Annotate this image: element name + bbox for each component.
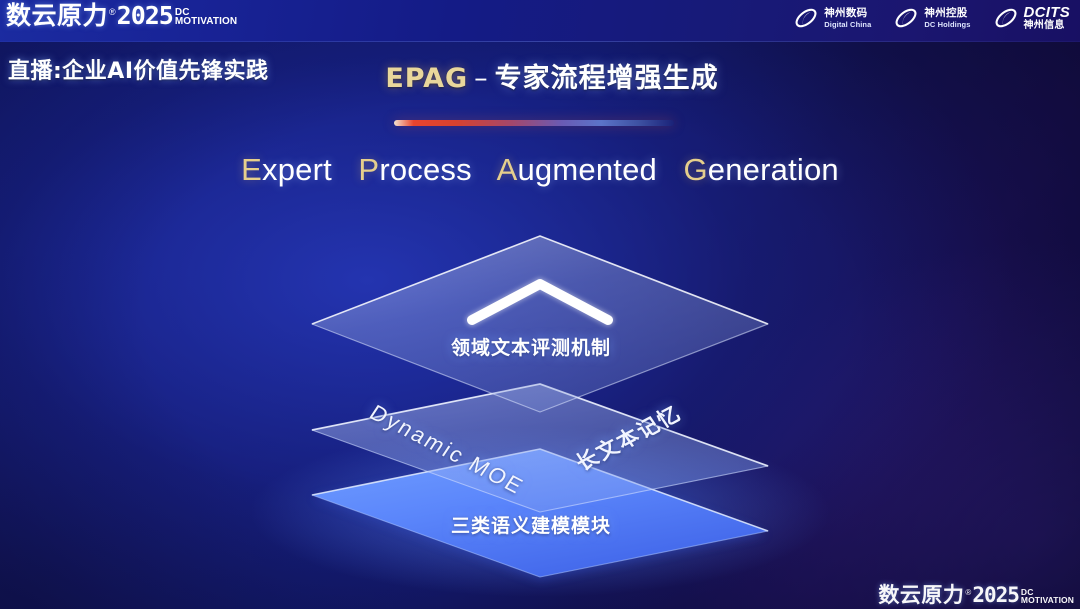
brand-year: 2025 bbox=[972, 585, 1019, 606]
layer-top-label: 领域文本评测机制 bbox=[451, 333, 611, 360]
brand-registered-mark: ® bbox=[965, 589, 971, 597]
chevron-up-icon bbox=[462, 272, 618, 330]
layer-stack-diagram: 领域文本评测机制 Dynamic MOE 长文本记忆 三类语义建模模块 bbox=[0, 0, 1080, 609]
brand-motivation-label: MOTIVATION bbox=[1021, 596, 1074, 605]
brand-dc-motivation: DC MOTIVATION bbox=[1021, 588, 1074, 605]
brand-name-cn: 数云原力 bbox=[878, 585, 964, 606]
layer-bottom-label: 三类语义建模模块 bbox=[451, 511, 611, 538]
slide-canvas: 数云原力 ® 2025 DC MOTIVATION 直播:企业AI价值先锋实践 … bbox=[0, 0, 1080, 609]
footer-watermark-logo: 数云原力 ® 2025 DC MOTIVATION bbox=[878, 585, 1074, 606]
